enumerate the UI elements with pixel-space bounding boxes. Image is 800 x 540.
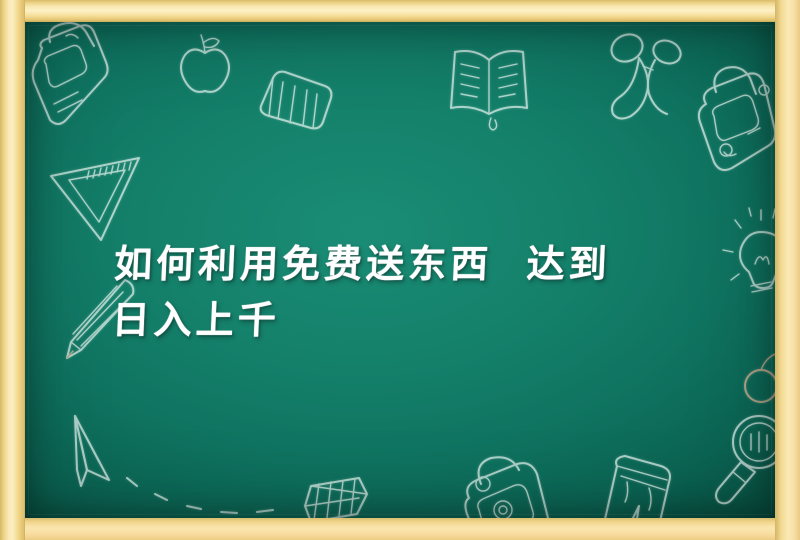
scissors-icon [597,26,697,136]
magnifier-icon [703,408,775,518]
page-title-line-2: 日入上千 [111,297,281,342]
jeans-icon [587,452,697,518]
apple-icon [165,27,245,107]
paper-airplane-icon [47,404,167,514]
chalkboard-surface: 如何利用免费送东西 达到日入上千 [25,22,775,518]
page-title: 如何利用免费送东西 达到日入上千 [111,236,756,348]
frame-top-rail [0,0,800,22]
screenshot-root: 如何利用免费送东西 达到日入上千 [0,0,800,540]
dashed-trail-icon [121,472,291,518]
frame-right-rail [775,0,800,540]
frame-left-rail [0,0,25,540]
backpack-icon [680,54,775,184]
backpack-icon [445,440,565,518]
eraser-icon [297,472,387,518]
cherry-icon [733,342,775,422]
page-title-line-1: 如何利用免费送东西 达到 [113,241,611,286]
crayon-icon [247,44,357,134]
backpack-icon [25,22,130,142]
open-book-icon [437,30,547,140]
frame-bottom-rail [0,518,800,540]
